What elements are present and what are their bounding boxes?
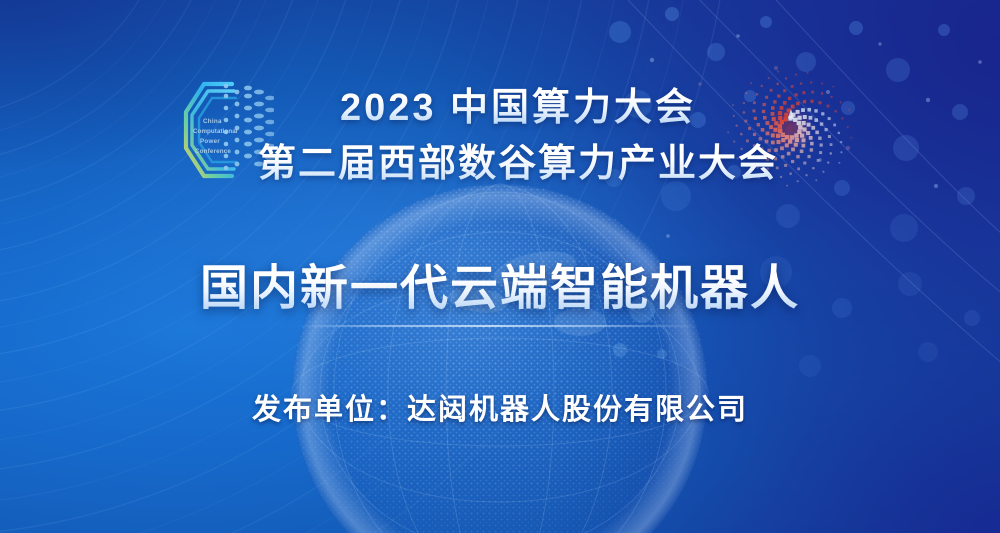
horizontal-divider (296, 325, 700, 327)
conference-title-line-2: 第二届西部数谷算力产业大会 (0, 132, 1000, 187)
slide-canvas: China Computational Power Conference (0, 0, 1000, 533)
conference-title-line-1: 2023 中国算力大会 (0, 76, 1000, 131)
page-title: 国内新一代云端智能机器人 (0, 248, 1000, 318)
publisher-line: 发布单位：达闼机器人股份有限公司 (0, 386, 1000, 428)
